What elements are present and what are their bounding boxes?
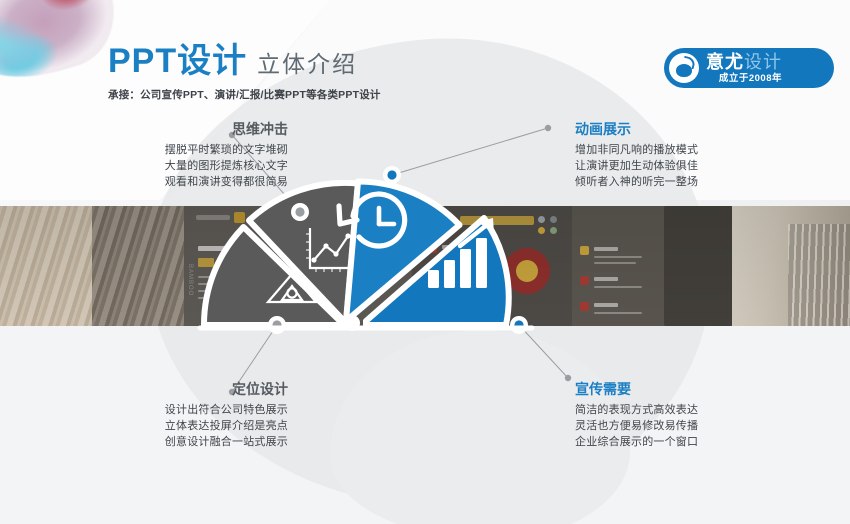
callout-line: 灵活也方便易修改易传播: [575, 419, 785, 435]
callout-line: 创意设计融合一站式展示: [78, 435, 288, 451]
slide-canvas: BAMBOO CONTENTS: [0, 0, 850, 524]
callout-title: 思维冲击: [78, 122, 288, 137]
callout-line: 设计出符合公司特色展示: [78, 403, 288, 419]
callout-title: 宣传需要: [575, 382, 785, 397]
callout-line: 立体表达投屏介绍是亮点: [78, 419, 288, 435]
title-description: 承接：公司宣传PPT、演讲/汇报/比赛PPT等各类PPT设计: [108, 87, 381, 102]
callout-line: 增加非同凡响的播放模式: [575, 143, 785, 159]
callout-thinking-impact: 思维冲击 摆脱平时繁琐的文字堆砌 大量的图形提炼核心文字 观看和演讲变得都很简易: [78, 122, 288, 191]
title-sub: 立体介绍: [257, 53, 357, 78]
logo-name-light: 设计: [744, 52, 782, 72]
callout-promotion-need: 宣传需要 简洁的表现方式高效表达 灵活也方便易修改易传播 企业综合展示的一个窗口: [575, 382, 785, 451]
logo-established: 成立于2008年: [706, 74, 782, 84]
callout-positioning-design: 定位设计 设计出符合公司特色展示 立体表达投屏介绍是亮点 创意设计融合一站式展示: [78, 382, 288, 451]
node-thinking-impact: [295, 207, 304, 216]
node-animation-display: [387, 170, 396, 179]
brand-logo[interactable]: 意尤设计 成立于2008年: [664, 48, 834, 88]
callout-line: 大量的图形提炼核心文字: [78, 159, 288, 175]
callout-line: 摆脱平时繁琐的文字堆砌: [78, 143, 288, 159]
logo-name-strong: 意尤: [706, 52, 744, 72]
callout-line: 简洁的表现方式高效表达: [575, 403, 785, 419]
page-title: PPT设计 立体介绍 承接：公司宣传PPT、演讲/汇报/比赛PPT等各类PPT设…: [108, 44, 381, 102]
callout-animation-display: 动画展示 增加非同凡响的播放模式 让演讲更加生动体验俱佳 倾听者入神的听完一整场: [575, 122, 785, 191]
title-main: PPT设计: [108, 44, 247, 78]
callout-title: 定位设计: [78, 382, 288, 397]
mouse-in-circle-icon: [669, 53, 699, 83]
callout-line: 企业综合展示的一个窗口: [575, 435, 785, 451]
callout-line: 倾听者入神的听完一整场: [575, 175, 785, 191]
callout-line: 让演讲更加生动体验俱佳: [575, 159, 785, 175]
callout-title: 动画展示: [575, 122, 785, 137]
callout-line: 观看和演讲变得都很简易: [78, 175, 288, 191]
